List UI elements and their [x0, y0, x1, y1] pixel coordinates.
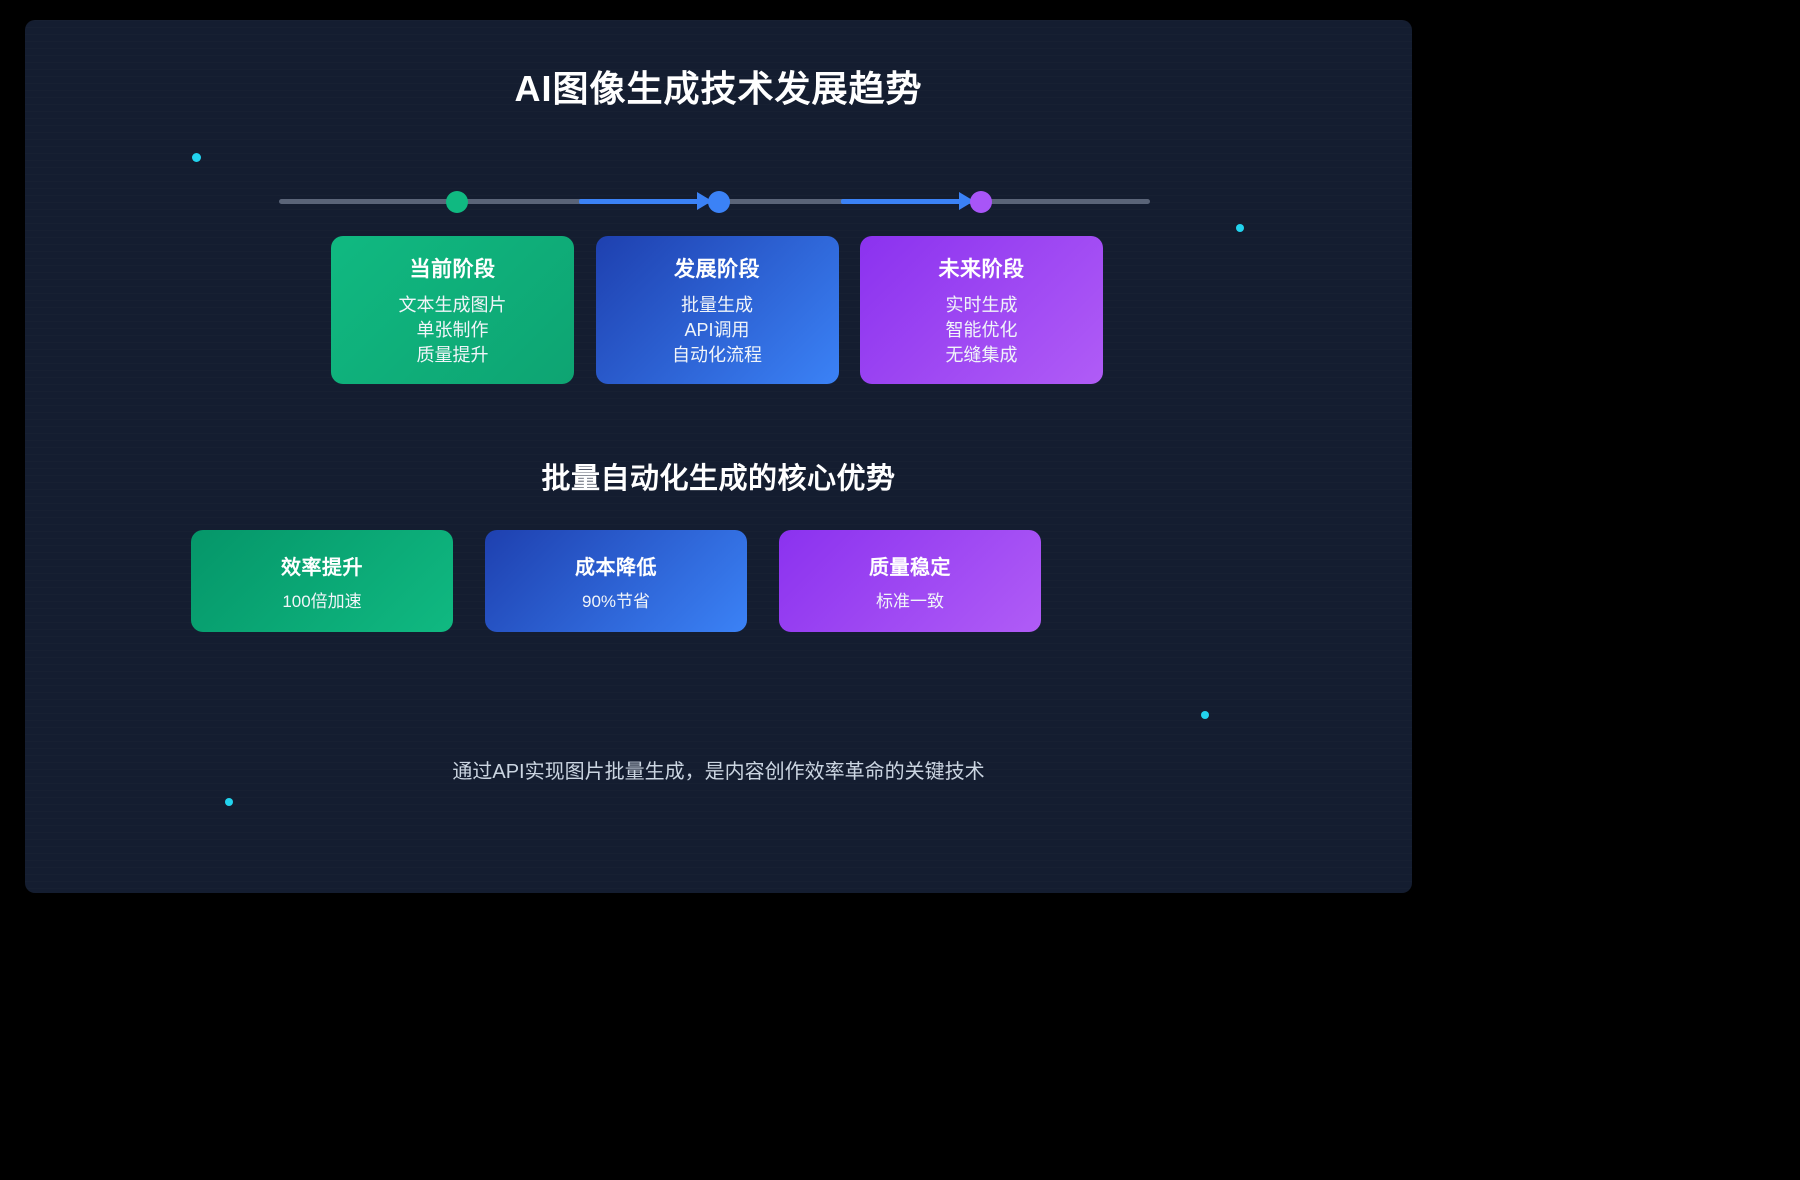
timeline-node-future[interactable] — [970, 191, 992, 213]
stage-card-group: 当前阶段 文本生成图片 单张制作 质量提升 发展阶段 批量生成 API调用 自动… — [331, 236, 1103, 384]
screenshot-root: AI图像生成技术发展趋势 当前阶段 文本生成图片 单张制作 质量提升 发展阶段 … — [0, 0, 1800, 1180]
benefit-card-cost[interactable]: 成本降低 90%节省 — [485, 530, 747, 632]
stage-card-current[interactable]: 当前阶段 文本生成图片 单张制作 质量提升 — [331, 236, 574, 384]
decorative-dot-3 — [1201, 711, 1209, 719]
page-title: AI图像生成技术发展趋势 — [25, 60, 1412, 112]
benefit-card-title: 效率提升 — [281, 551, 363, 580]
stage-card-line: 文本生成图片 — [399, 293, 507, 318]
stage-card-line: 自动化流程 — [672, 343, 762, 368]
slide-canvas: AI图像生成技术发展趋势 当前阶段 文本生成图片 单张制作 质量提升 发展阶段 … — [25, 20, 1412, 893]
stage-card-title: 未来阶段 — [939, 253, 1025, 283]
decorative-dot-1 — [192, 153, 201, 162]
timeline-progress-segment-2 — [841, 199, 961, 204]
benefit-card-subtitle: 90%节省 — [582, 587, 650, 612]
benefit-card-efficiency[interactable]: 效率提升 100倍加速 — [191, 530, 453, 632]
stage-card-line: 实时生成 — [946, 293, 1018, 318]
benefit-card-group: 效率提升 100倍加速 成本降低 90%节省 质量稳定 标准一致 — [191, 530, 1221, 632]
stage-card-future[interactable]: 未来阶段 实时生成 智能优化 无缝集成 — [860, 236, 1103, 384]
decorative-dot-4 — [225, 798, 233, 806]
benefit-card-quality[interactable]: 质量稳定 标准一致 — [779, 530, 1041, 632]
stage-card-development[interactable]: 发展阶段 批量生成 API调用 自动化流程 — [596, 236, 839, 384]
timeline-progress-segment-1 — [579, 199, 701, 204]
benefit-card-title: 质量稳定 — [869, 551, 951, 580]
decorative-dot-2 — [1236, 224, 1244, 232]
stage-card-line: 单张制作 — [417, 318, 489, 343]
section-heading: 批量自动化生成的核心优势 — [25, 455, 1412, 497]
timeline-node-development[interactable] — [708, 191, 730, 213]
stage-card-line: 智能优化 — [946, 318, 1018, 343]
benefit-card-title: 成本降低 — [575, 551, 657, 580]
benefit-card-subtitle: 标准一致 — [876, 587, 944, 612]
stage-card-line: 质量提升 — [417, 343, 489, 368]
stage-card-line: 无缝集成 — [946, 343, 1018, 368]
stage-card-title: 发展阶段 — [674, 253, 760, 283]
stage-card-line: 批量生成 — [681, 293, 753, 318]
benefit-card-subtitle: 100倍加速 — [282, 587, 361, 612]
stage-card-line: API调用 — [684, 318, 749, 343]
footer-note: 通过API实现图片批量生成，是内容创作效率革命的关键技术 — [25, 755, 1412, 784]
stage-timeline — [279, 184, 1150, 220]
stage-card-title: 当前阶段 — [410, 253, 496, 283]
timeline-node-current[interactable] — [446, 191, 468, 213]
